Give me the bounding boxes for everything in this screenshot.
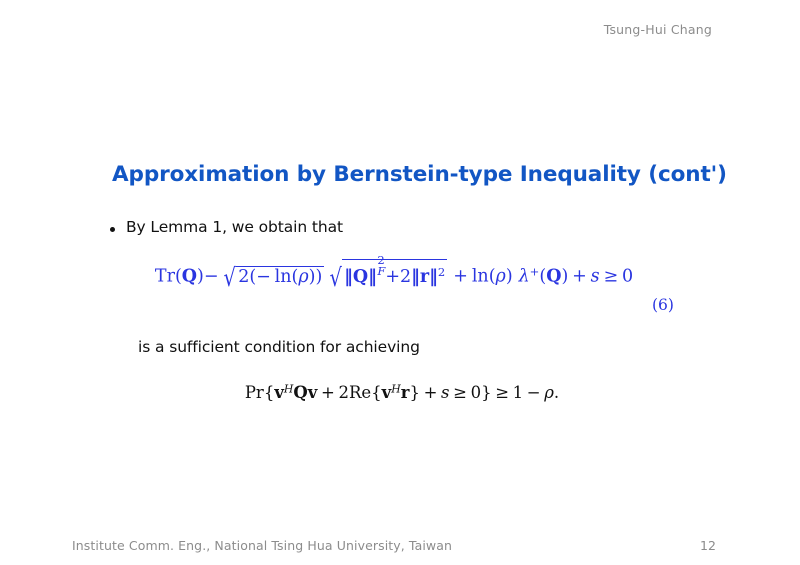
- eq1-normr: ‖r‖: [411, 267, 438, 287]
- eq2-lbrace-2: {: [371, 383, 382, 402]
- eq2-Q: Q: [293, 383, 307, 402]
- eq1-rparen: ): [197, 266, 204, 286]
- eq1-rho-2: ρ: [496, 266, 506, 286]
- eq1-two-2: 2: [400, 267, 411, 287]
- eq2-s: s: [441, 383, 449, 402]
- eq2-zero: 0: [471, 383, 482, 402]
- eq2-rho: ρ: [544, 383, 554, 402]
- eq1-ln2-rparen: ): [506, 266, 513, 286]
- bullet-item-1: By Lemma 1, we obtain that: [110, 218, 343, 236]
- equation-2-container: Pr{vHQv+2Re{vHr}+s≥0}≥1−ρ.: [0, 383, 800, 402]
- eq2-two: 2: [338, 383, 349, 402]
- equation-1-container: Tr(Q)−√2(−ln(ρ))√‖Q‖2F+2‖r‖2+ln(ρ)λ+(Q)+…: [0, 258, 800, 286]
- eq1-rho-1: ρ: [298, 267, 308, 287]
- eq1-radicand-1: 2(−ln(ρ)): [236, 266, 325, 287]
- equation-1: Tr(Q)−√2(−ln(ρ))√‖Q‖2F+2‖r‖2+ln(ρ)λ+(Q)+…: [155, 258, 633, 286]
- eq1-radical-2: √‖Q‖2F+2‖r‖2: [324, 258, 447, 286]
- eq2-rbrace-1: }: [409, 383, 420, 402]
- eq1-minus: −: [204, 266, 219, 286]
- eq1-Q-2: Q: [546, 266, 561, 286]
- equation-2: Pr{vHQv+2Re{vHr}+s≥0}≥1−ρ.: [245, 385, 559, 402]
- eq1-normr-sup: 2: [438, 265, 445, 279]
- eq1-normQ-exponents: 2F: [377, 261, 385, 283]
- eq1-s: s: [591, 266, 600, 286]
- eq1-geq: ≥: [603, 266, 618, 286]
- eq2-re: Re: [349, 383, 371, 402]
- eq2-plus-2: +: [424, 383, 438, 402]
- eq2-geq-2: ≥: [495, 383, 509, 402]
- eq1-ln1-rparen: ): [309, 267, 316, 287]
- eq2-v-2: v: [308, 383, 318, 402]
- eq1-lam-rparen: ): [561, 266, 568, 286]
- eq1-normQ-sub: F: [377, 266, 385, 277]
- eq1-lambda: λ: [519, 266, 530, 286]
- eq2-v-1: v: [274, 383, 284, 402]
- eq1-lparen: (: [175, 266, 182, 286]
- eq1-radicand-2: ‖Q‖2F+2‖r‖2: [342, 259, 448, 287]
- eq1-inner-rparen: ): [316, 267, 323, 287]
- equation-number-6: (6): [652, 296, 674, 314]
- eq2-pr: Pr: [245, 383, 264, 402]
- eq2-period: .: [554, 383, 559, 402]
- eq2-v1-sup-H: H: [284, 382, 293, 395]
- eq1-Q-1: Q: [182, 266, 197, 286]
- eq2-geq-1: ≥: [453, 383, 467, 402]
- eq2-lbrace: {: [264, 383, 275, 402]
- eq1-tr: Tr: [155, 266, 175, 286]
- bullet-item-1-label: By Lemma 1, we obtain that: [126, 218, 343, 236]
- eq1-ln-1: ln: [275, 267, 292, 287]
- footer-page-number: 12: [700, 538, 716, 553]
- eq2-v-3: v: [382, 383, 392, 402]
- eq1-ln-2: ln: [472, 266, 489, 286]
- eq2-plus-1: +: [321, 383, 335, 402]
- eq1-lambda-sup: +: [530, 264, 540, 278]
- eq1-zero: 0: [622, 266, 633, 286]
- bullet-dot-icon: [110, 227, 115, 232]
- subtext-sufficient-condition: is a sufficient condition for achieving: [138, 338, 420, 356]
- eq1-two: 2: [238, 267, 249, 287]
- eq2-one: 1: [513, 383, 524, 402]
- eq1-radical-1: √2(−ln(ρ)): [219, 265, 325, 286]
- eq2-minus: −: [527, 383, 541, 402]
- eq2-v3-sup-H: H: [391, 382, 400, 395]
- eq1-normQ: ‖Q‖: [344, 267, 377, 287]
- eq1-plus-2: +: [453, 266, 468, 286]
- eq2-rbrace-2: }: [481, 383, 492, 402]
- eq1-inner-minus: −: [256, 267, 271, 287]
- slide-body: By Lemma 1, we obtain that Tr(Q)−√2(−ln(…: [0, 0, 800, 565]
- eq1-ln2-lparen: (: [489, 266, 496, 286]
- eq1-plus-3: +: [572, 266, 587, 286]
- footer-affiliation: Institute Comm. Eng., National Tsing Hua…: [72, 538, 452, 553]
- slide-canvas: Tsung-Hui Chang Approximation by Bernste…: [0, 0, 800, 565]
- eq1-plus-1: +: [385, 267, 400, 287]
